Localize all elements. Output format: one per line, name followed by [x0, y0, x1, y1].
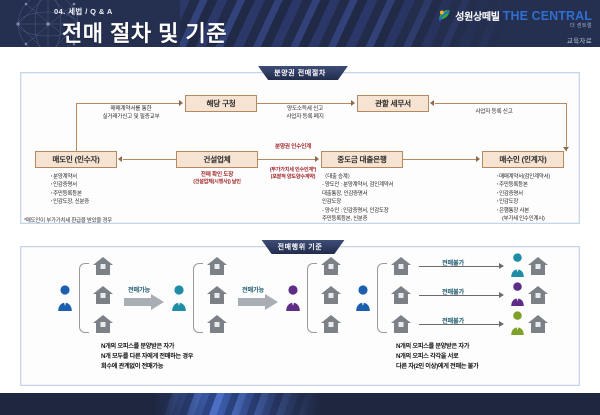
house-icon: [207, 257, 227, 275]
house-icon: [207, 286, 227, 304]
bottom-panel-ribbon: 전매행위 기준: [256, 240, 345, 254]
caption-line: 회수에 관계없이 전매가능: [101, 362, 193, 372]
right-caption: N개의 오피스를 분양받은 자가 N개의 오피스 각각을 서로 다른 자(2인 …: [396, 342, 478, 372]
brand-block: 성원상떼빌 THE CENTRAL 더 센트럴 교육자료: [437, 8, 592, 45]
brace-left-2: [193, 263, 203, 333]
leaf-logo-icon: [437, 8, 452, 23]
list-item: - 양도인 : 분양계약서, 검인계약서: [322, 181, 393, 189]
house-icon: [207, 315, 227, 333]
edge-label-transfer-contract: (포괄적 양도양수계약): [255, 174, 331, 181]
connector-bank-to-buyer: [403, 159, 476, 160]
list-item: 주민등록등본: [51, 190, 89, 198]
house-icon: [391, 286, 411, 304]
brand-subtitle: 더 센트럴: [437, 22, 592, 29]
caption-line: N개의 오피스 각각을 서로: [396, 352, 478, 362]
caption-line: 다른 자(2인 이상)에게 전매는 불가: [396, 362, 478, 372]
slide-header: 04. 세법 / Q & A 전매 절차 및 기준 성원상떼빌 THE CENT…: [0, 0, 600, 47]
block-arrow-icon: [238, 294, 278, 310]
person-icon-purple: [285, 285, 301, 311]
flow-box-seller: 매도인 (인수자): [35, 151, 117, 168]
connector-seller-up: [76, 103, 77, 151]
house-icon: [321, 286, 341, 304]
house-icon: [93, 315, 113, 333]
slide-root: 04. 세법 / Q & A 전매 절차 및 기준 성원상떼빌 THE CENT…: [0, 0, 600, 415]
list-item: 대출통장, 인감증명서: [322, 190, 393, 198]
arrow-head-2: [499, 292, 504, 298]
house-icon: [528, 315, 548, 333]
list-item: 인감도장: [497, 198, 550, 206]
edge-label-builder-seal: 전매 확인 도장: [176, 171, 258, 179]
tag-transfer-possible-2: 전매가능: [242, 285, 264, 294]
house-icon: [391, 315, 411, 333]
buyer-docs-note: (부가세 인수인계시): [497, 215, 550, 223]
house-icon: [321, 257, 341, 275]
edge-label-gu-to-tax: 양도소득세 신고 사업자 등록 폐지: [261, 105, 349, 121]
connector-builder-to-seller: [123, 159, 176, 160]
arrow-to-buyer: [476, 156, 480, 162]
connector-seller-to-gu: [76, 103, 180, 104]
caption-line: N개 모두를 다른 자에게 전매하는 경우: [101, 352, 193, 362]
person-icon-purple-right: [510, 282, 525, 306]
list-item: 주민등록등본: [497, 181, 550, 189]
list-item: 인감증명서: [51, 181, 89, 189]
house-icon: [391, 257, 411, 275]
arrow-to-gu-office: [179, 100, 183, 106]
list-item: 인감증명서: [497, 190, 550, 198]
person-icon-blue-right: [355, 285, 371, 311]
caption-line: N개의 오피스를 분양받은 자가: [101, 342, 193, 352]
arrow-to-tax-office-left: [430, 100, 434, 106]
arrow-to-tax-office: [351, 100, 355, 106]
arrow-down-to-buyer: [563, 147, 569, 151]
seller-document-list: 분양계약서 인감증명서 주민등록등본 인감도장, 신분증: [51, 173, 89, 207]
person-icon-blue: [57, 285, 73, 311]
connector-buyer-up: [566, 103, 567, 151]
connector-buyer-to-tax: [435, 103, 566, 104]
brace-right: [377, 263, 387, 333]
edge-label-seller-to-gu: 매매계약서를 통한 실거래가신고 및 필증교부: [83, 105, 179, 121]
list-item: 분양계약서: [51, 173, 89, 181]
arrow-to-seller: [118, 156, 122, 162]
left-caption: N개의 오피스를 분양받은 자가 N개 모두를 다른 자에게 전매하는 경우 회…: [101, 342, 193, 372]
list-item: 매매계약서(검인계약서): [497, 173, 550, 181]
footer-stripe-pattern: [150, 393, 340, 415]
tag-transfer-not-allowed-2: 전매불가: [442, 287, 464, 296]
flow-box-builder: 건설업체: [176, 151, 258, 168]
tag-transfer-not-allowed-1: 전매불가: [442, 258, 464, 267]
bottom-diagram-panel: 전매행위 기준 전매가능: [20, 246, 580, 386]
list-item: 주민등록등본, 신분증: [322, 215, 393, 223]
block-arrow-icon: [124, 294, 164, 310]
flow-box-tax-office: 관할 세무서: [357, 95, 429, 112]
house-icon: [528, 257, 548, 275]
brand-name-ko: 성원상떼빌: [455, 8, 500, 23]
flow-box-buyer: 매수인 (인계자): [482, 151, 564, 168]
buyer-document-list: 매매계약서(검인계약서) 주민등록등본 인감증명서 인감도장 은행통장 사본 (…: [497, 173, 550, 223]
bank-document-list: 〈대출 승계〉 - 양도인 : 분양계약서, 검인계약서 대출통장, 인감증명서…: [322, 173, 393, 223]
connector-gu-to-tax: [257, 103, 351, 104]
top-flowchart-panel: 분양권 전매절차 해당 구청 관할 세무서 매도인 (인수자) 건설업체 중도금…: [20, 72, 580, 224]
top-panel-footnote: *매도인이 부가가치세 환급을 받았을 경우: [24, 216, 112, 224]
top-panel-ribbon: 분양권 전매절차: [252, 66, 348, 80]
page-title: 전매 절차 및 기준: [62, 16, 227, 47]
house-icon: [93, 286, 113, 304]
person-icon-teal-right: [510, 253, 525, 277]
list-item: 인감도장: [322, 198, 393, 206]
list-item: - 양수인 : 인감증명서, 인감도장: [322, 207, 393, 215]
bank-docs-title: 〈대출 승계〉: [322, 173, 393, 181]
connector-builder-to-bank: [258, 159, 315, 160]
house-icon: [321, 315, 341, 333]
list-item: 인감도장, 신분증: [51, 198, 89, 206]
house-icon: [528, 286, 548, 304]
arrow-head-1: [499, 263, 504, 269]
person-icon-teal: [171, 285, 187, 311]
brand-name-en: THE CENTRAL: [503, 9, 592, 23]
edge-label-builder-seal-detail: (건설업체(시행사)) 날인: [167, 179, 267, 186]
flow-box-gu-office: 해당 구청: [185, 95, 257, 112]
house-icon: [93, 257, 113, 275]
edge-label-buyer-to-tax: 사업자 등록 신고: [439, 108, 549, 116]
slide-footer: [0, 393, 600, 415]
edge-label-transfer-title: 분양권 인수인계: [261, 143, 325, 151]
flow-box-loan-bank: 중도금 대출은행: [321, 151, 403, 168]
tag-transfer-possible-1: 전매가능: [128, 285, 150, 294]
arrow-to-loan-bank: [315, 156, 319, 162]
brand-note: 교육자료: [437, 35, 592, 45]
brace-left-3: [307, 263, 317, 333]
list-item: 은행통장 사본: [497, 207, 550, 215]
brace-left-1: [79, 263, 89, 333]
caption-line: N개의 오피스를 분양받은 자가: [396, 342, 478, 352]
person-icon-green-right: [510, 311, 525, 335]
arrow-head-3: [499, 321, 504, 327]
tag-transfer-not-allowed-3: 전매불가: [442, 316, 464, 325]
